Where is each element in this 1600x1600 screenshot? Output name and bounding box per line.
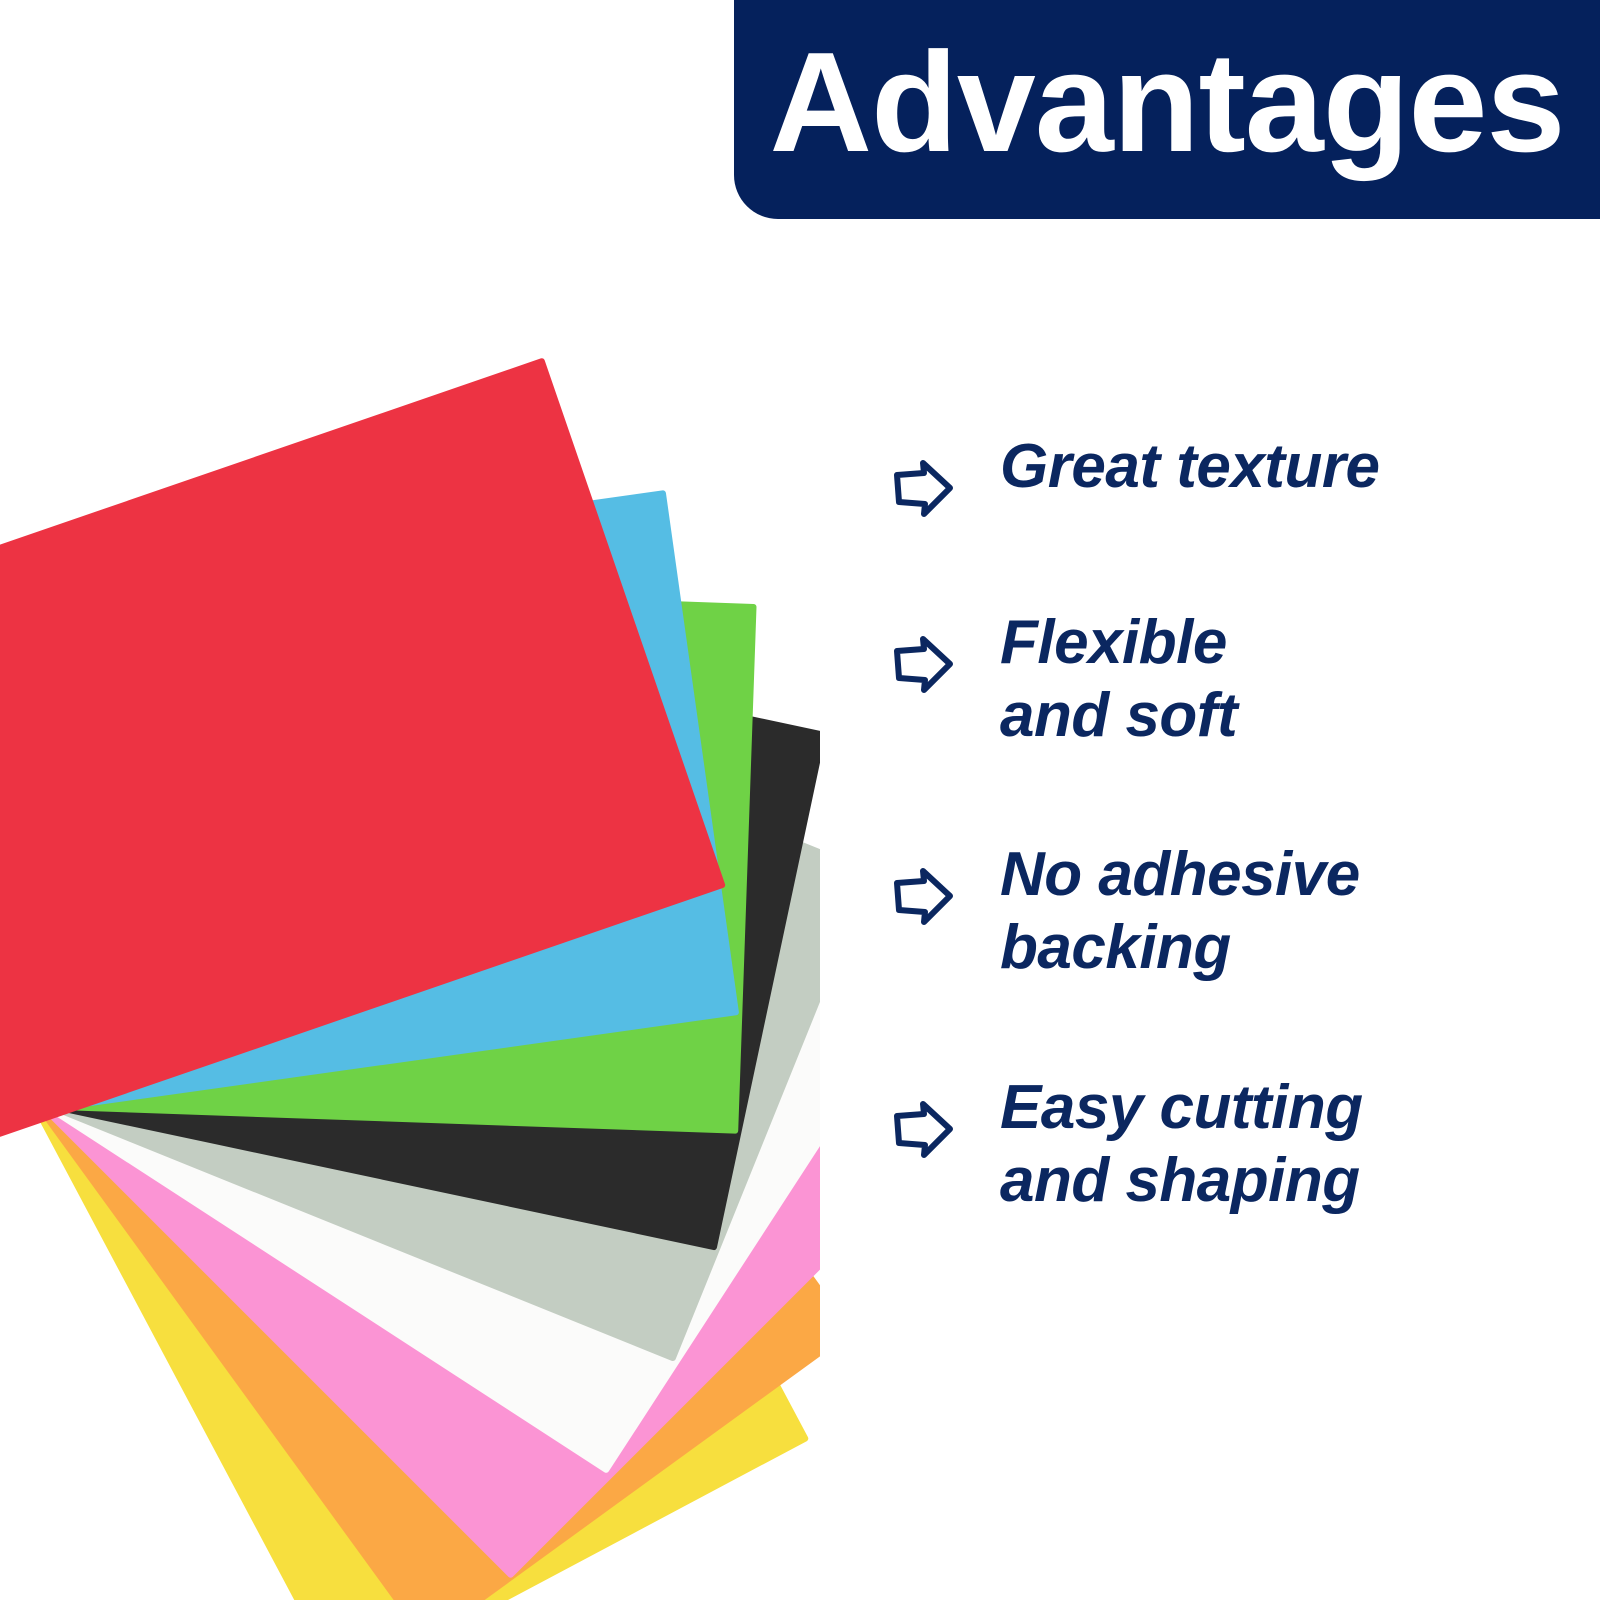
advantage-text-3: No adhesive backing [1000,838,1360,984]
advantage-item-3: No adhesive backing [890,838,1580,984]
advantage-line: Easy cutting [1000,1071,1363,1144]
product-photo [0,0,820,1600]
advantage-item-2: Flexible and soft [890,606,1580,752]
right-arrow-outline-icon [890,1099,954,1161]
advantage-item-4: Easy cutting and shaping [890,1071,1580,1217]
advantage-text-2: Flexible and soft [1000,606,1237,752]
advantages-list: Great texture Flexible and soft No adhes [890,430,1580,1217]
advantage-text-4: Easy cutting and shaping [1000,1071,1363,1217]
advantage-line: and shaping [1000,1144,1363,1217]
advantage-text-1: Great texture [1000,430,1379,503]
title-banner: Advantages [734,0,1600,219]
advantage-line: Great texture [1000,430,1379,503]
infographic-canvas: Advantages Great texture Flexible and so… [0,0,1600,1600]
advantage-line: No adhesive [1000,838,1360,911]
page-title: Advantages [770,32,1565,174]
right-arrow-outline-icon [890,458,954,520]
advantage-line: and soft [1000,679,1237,752]
advantage-line: backing [1000,911,1360,984]
advantage-item-1: Great texture [890,430,1580,520]
right-arrow-outline-icon [890,634,954,696]
right-arrow-outline-icon [890,866,954,928]
advantage-line: Flexible [1000,606,1237,679]
